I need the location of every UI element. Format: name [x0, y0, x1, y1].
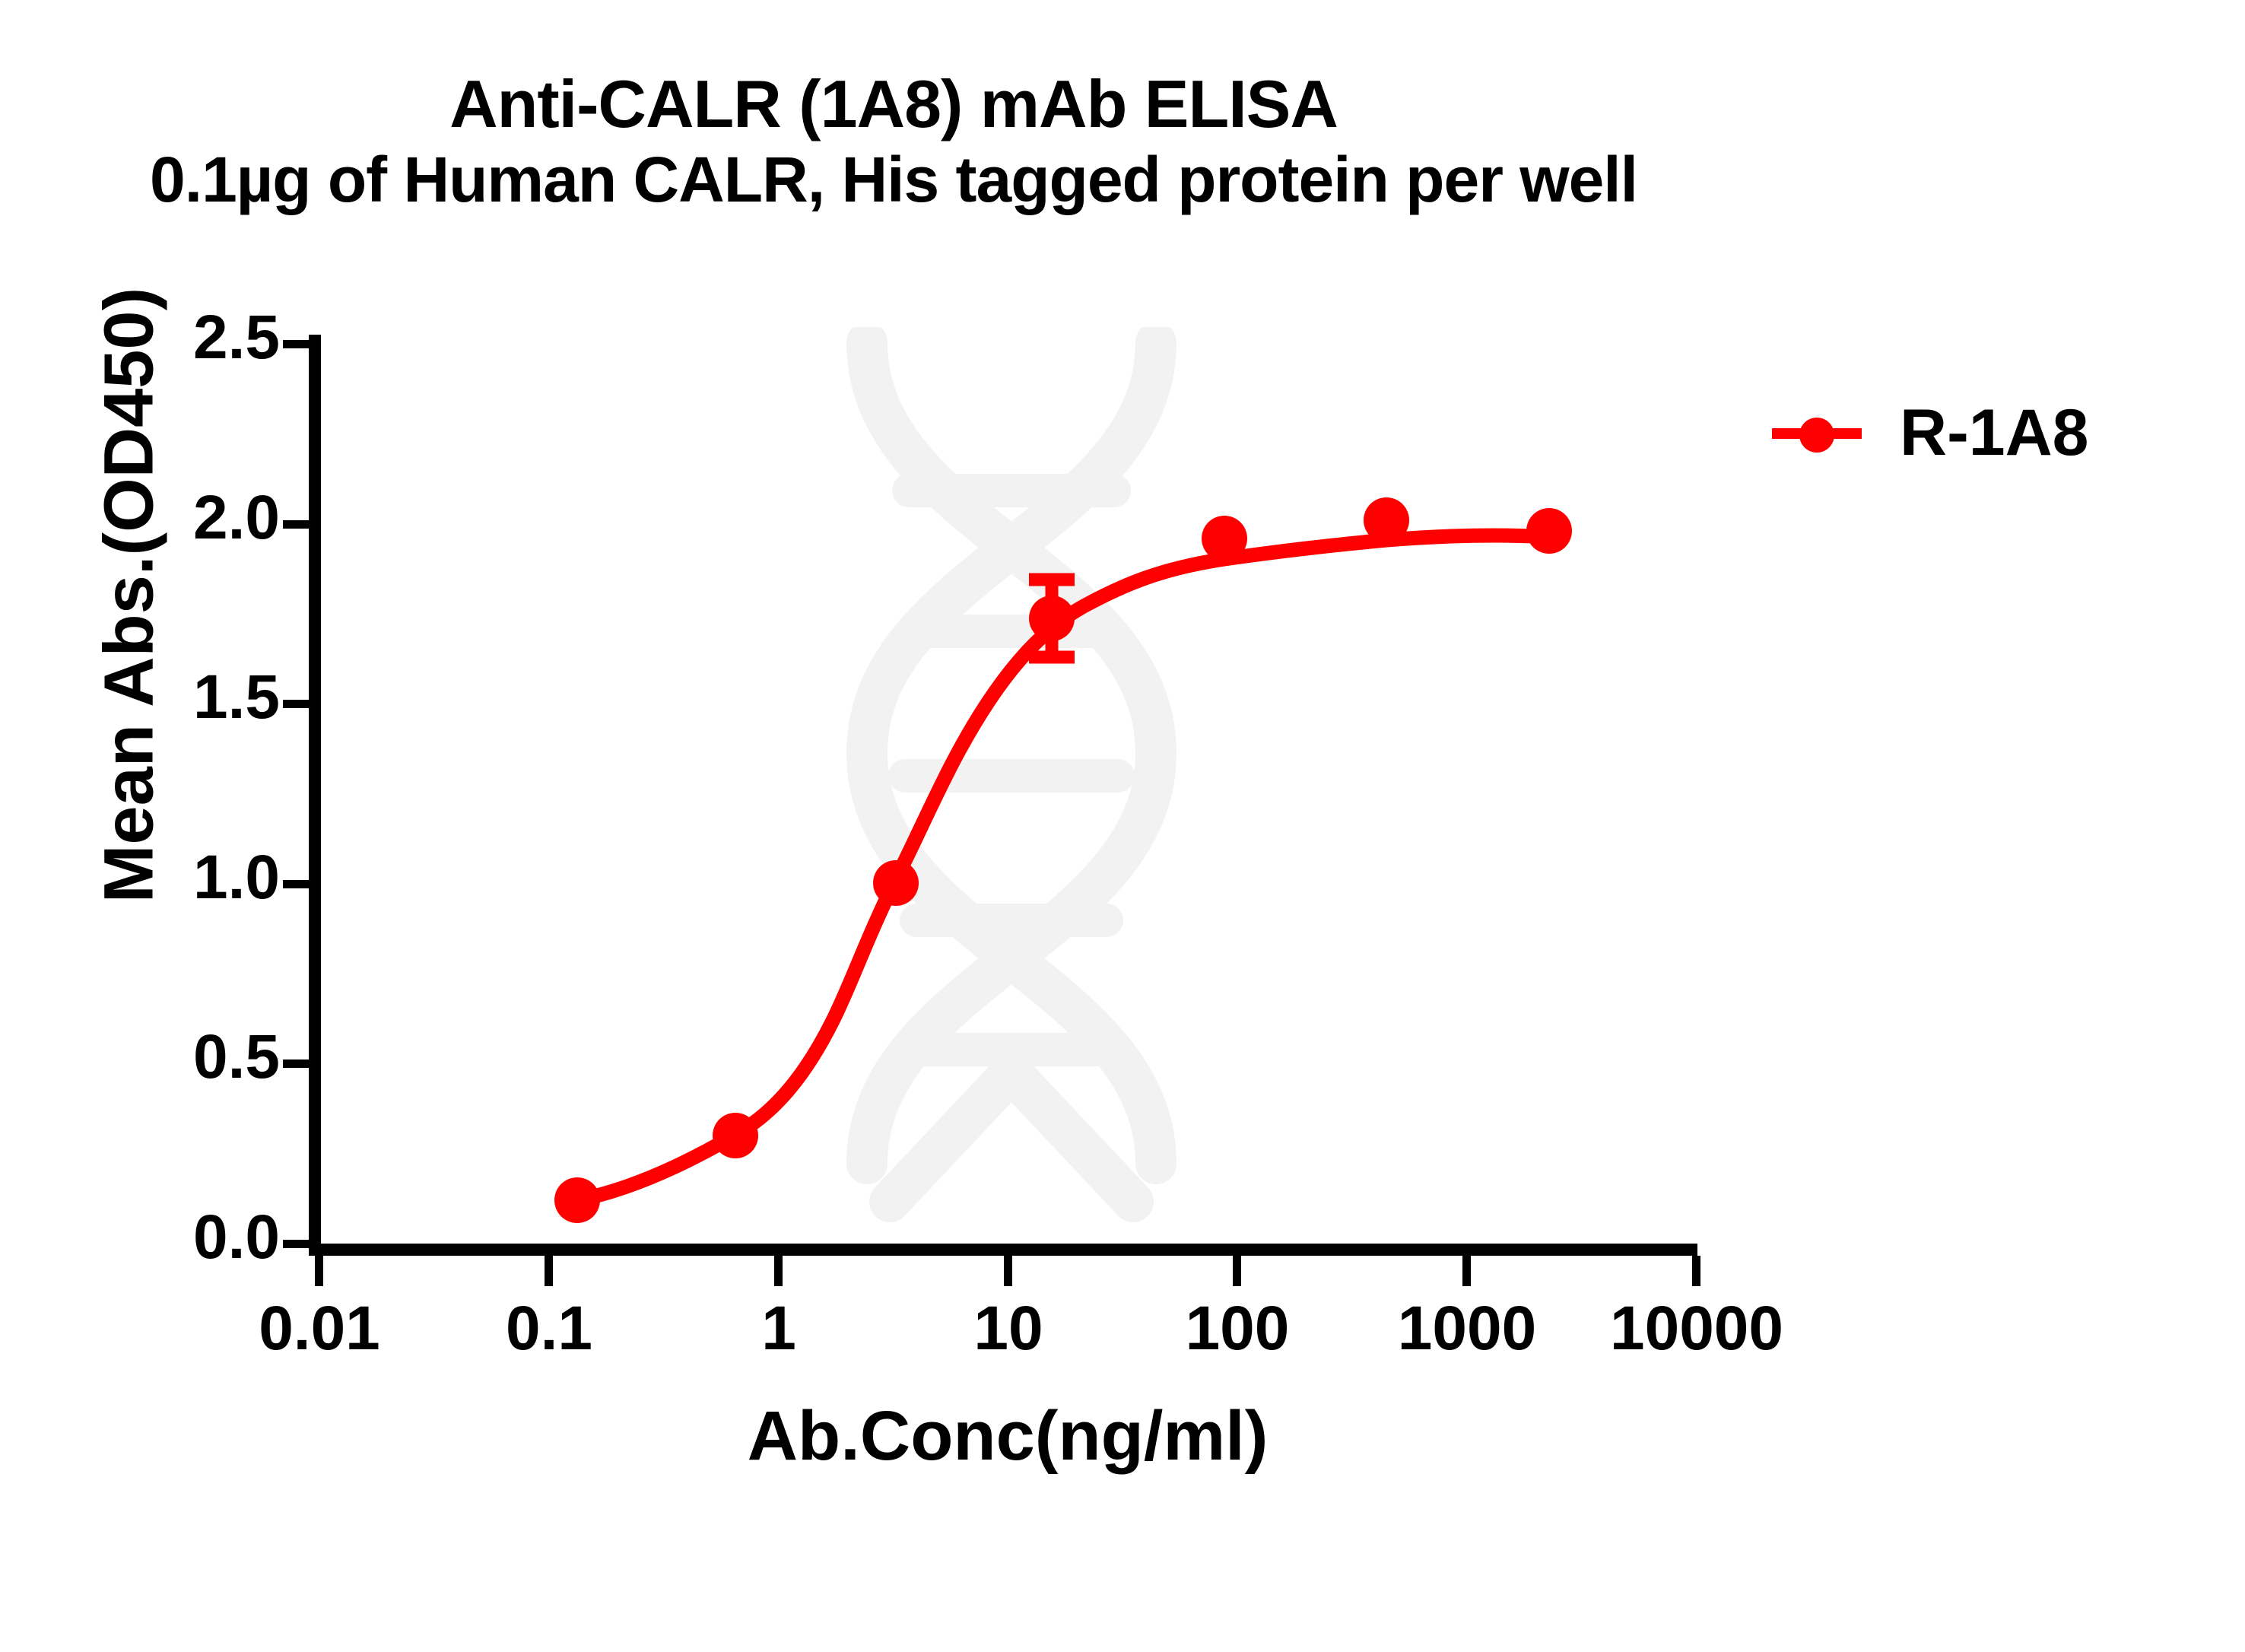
y-tick-mark [283, 880, 310, 888]
y-tick-label-4: 2.0 [181, 482, 280, 554]
data-point [1202, 516, 1247, 561]
x-tick-label-3: 10 [894, 1293, 1122, 1364]
x-tick-mark [1004, 1256, 1012, 1286]
y-tick-mark [283, 700, 310, 708]
x-tick-mark [774, 1256, 783, 1286]
y-tick-mark [283, 1240, 310, 1248]
y-tick-label-5: 2.5 [181, 302, 280, 373]
legend-marker-r-1a8 [1772, 413, 1862, 454]
data-point [1526, 508, 1572, 554]
x-tick-label-1: 0.1 [435, 1293, 663, 1364]
x-tick-mark [545, 1256, 553, 1286]
x-axis-title: Ab.Conc(ng/ml) [319, 1396, 1696, 1476]
x-axis-line [309, 1244, 1697, 1256]
chart-title-block: Anti-CALR (1A8) mAb ELISA 0.1µg of Human… [0, 70, 1787, 213]
x-tick-label-6: 10000 [1583, 1293, 1811, 1364]
x-tick-label-4: 100 [1123, 1293, 1351, 1364]
data-point [713, 1113, 758, 1158]
data-point [554, 1177, 600, 1223]
y-tick-mark [283, 340, 310, 348]
data-point [873, 860, 919, 906]
plot-area [319, 344, 1696, 1244]
legend-label-r-1a8: R-1A8 [1900, 396, 2089, 471]
y-tick-label-1: 0.5 [181, 1021, 280, 1093]
chart-subtitle: 0.1µg of Human CALR, His tagged protein … [0, 146, 1787, 213]
data-point [1029, 596, 1075, 641]
data-point [1364, 497, 1409, 543]
x-tick-label-0: 0.01 [205, 1293, 433, 1364]
x-tick-mark [1462, 1256, 1471, 1286]
series-r-1a8 [319, 344, 1696, 1244]
x-tick-mark [1233, 1256, 1241, 1286]
y-tick-label-3: 1.5 [181, 662, 280, 733]
elisa-chart-figure: Anti-CALR (1A8) mAb ELISA 0.1µg of Human… [0, 0, 2245, 1652]
y-tick-mark [283, 520, 310, 529]
legend: R-1A8 [1772, 396, 2089, 471]
y-axis-title: Mean Abs.(OD450) [90, 215, 170, 976]
y-tick-mark [283, 1060, 310, 1068]
x-tick-mark [1692, 1256, 1700, 1286]
chart-title: Anti-CALR (1A8) mAb ELISA [0, 70, 1787, 138]
y-tick-label-2: 1.0 [181, 842, 280, 913]
legend-dot-icon [1799, 418, 1834, 453]
y-tick-label-0: 0.0 [181, 1202, 280, 1273]
x-tick-mark [315, 1256, 323, 1286]
x-tick-label-2: 1 [665, 1293, 893, 1364]
x-tick-label-5: 1000 [1353, 1293, 1581, 1364]
